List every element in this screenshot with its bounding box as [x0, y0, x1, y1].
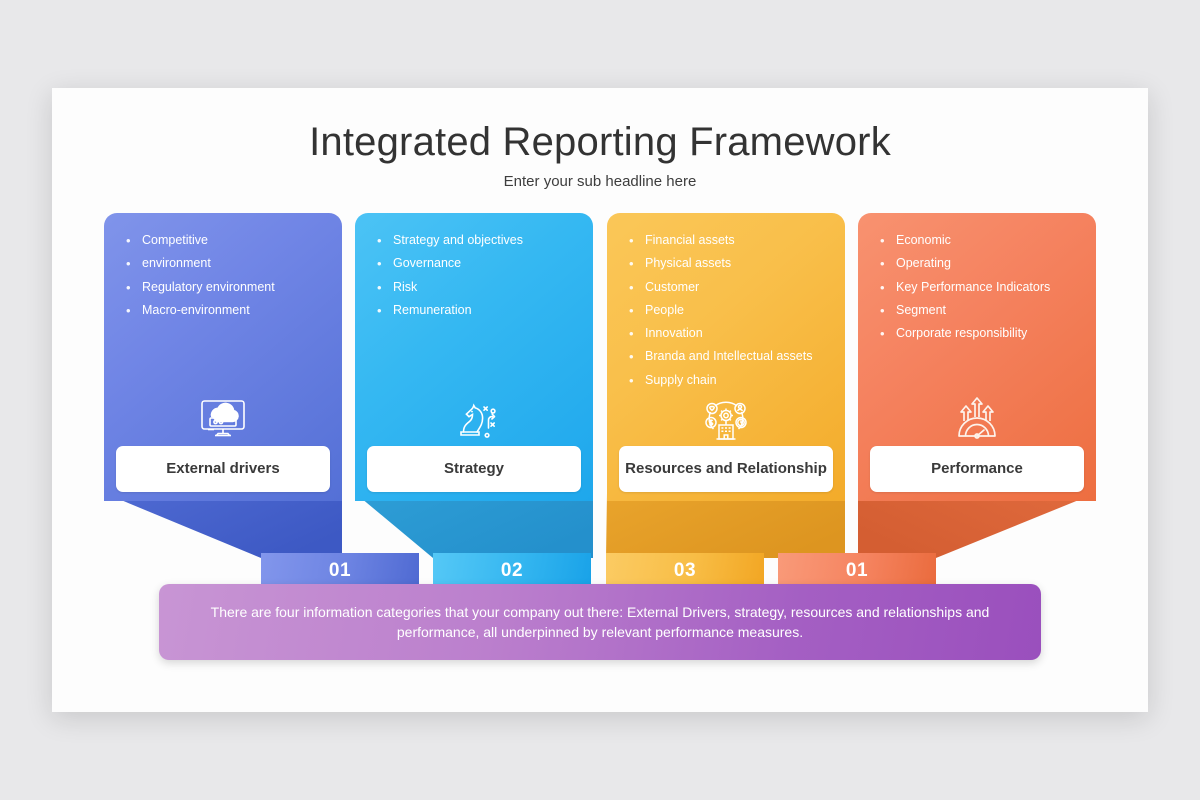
page-subtitle: Enter your sub headline here: [52, 173, 1148, 190]
list-item: • People: [629, 303, 835, 319]
list-item-label: Corporate responsibility: [896, 326, 1086, 342]
list-item: • Financial assets: [629, 233, 835, 249]
list-item-label: Supply chain: [645, 373, 835, 389]
bullet-dot: •: [377, 233, 393, 249]
list-item: • Remuneration: [377, 303, 583, 319]
list-item-label: Key Performance Indicators: [896, 280, 1086, 296]
list-item-label: People: [645, 303, 835, 319]
list-item: • Operating: [880, 256, 1086, 272]
list-item: • Supply chain: [629, 373, 835, 389]
list-item: • Corporate responsibility: [880, 326, 1086, 342]
cloud-server-monitor-icon: [104, 391, 342, 445]
bullet-dot: •: [880, 233, 896, 249]
bullet-dot: •: [629, 256, 645, 272]
bullet-dot: •: [880, 280, 896, 296]
bullet-dot: •: [377, 256, 393, 272]
list-item: • Economic: [880, 233, 1086, 249]
column-card: • Strategy and objectives • Governance •…: [355, 213, 593, 501]
bullet-list: • Economic • Operating • Key Performance…: [880, 233, 1086, 349]
column-external-drivers[interactable]: • Competitive • environment • Regulatory…: [104, 213, 342, 501]
bullet-dot: •: [629, 326, 645, 342]
list-item-label: Customer: [645, 280, 835, 296]
list-item-label: Physical assets: [645, 256, 835, 272]
list-item: • Regulatory environment: [126, 280, 332, 296]
list-item-label: Remuneration: [393, 303, 583, 319]
performance-gauge-arrows-icon: [858, 391, 1096, 445]
bullet-dot: •: [629, 349, 645, 365]
bullet-dot: •: [880, 326, 896, 342]
list-item-label: Risk: [393, 280, 583, 296]
bullet-dot: •: [880, 256, 896, 272]
slide-canvas: Integrated Reporting Framework Enter you…: [52, 88, 1148, 712]
list-item: • Branda and Intellectual assets: [629, 349, 835, 365]
summary-banner: There are four information categories th…: [159, 584, 1041, 660]
bullet-dot: •: [629, 373, 645, 389]
list-item: • Competitive: [126, 233, 332, 249]
list-item-label: Segment: [896, 303, 1086, 319]
bullet-list: • Financial assets • Physical assets • C…: [629, 233, 835, 396]
list-item: • Strategy and objectives: [377, 233, 583, 249]
column-performance[interactable]: • Economic • Operating • Key Performance…: [858, 213, 1096, 501]
list-item-label: Financial assets: [645, 233, 835, 249]
list-item: • Risk: [377, 280, 583, 296]
list-item-label: Economic: [896, 233, 1086, 249]
list-item-label: Competitive: [142, 233, 332, 249]
list-item-label: Branda and Intellectual assets: [645, 349, 835, 365]
list-item: • Innovation: [629, 326, 835, 342]
bullet-dot: •: [377, 280, 393, 296]
list-item: • Segment: [880, 303, 1086, 319]
column-label-strategy[interactable]: Strategy: [367, 446, 581, 492]
column-label-resources-relationship[interactable]: Resources and Relationship: [619, 446, 833, 492]
column-card: • Competitive • environment • Regulatory…: [104, 213, 342, 501]
page-title: Integrated Reporting Framework: [52, 120, 1148, 165]
resources-network-gear-icon: [607, 391, 845, 445]
list-item-label: Regulatory environment: [142, 280, 332, 296]
bullet-dot: •: [629, 233, 645, 249]
bullet-dot: •: [126, 280, 142, 296]
bullet-list: • Competitive • environment • Regulatory…: [126, 233, 332, 326]
column-label-performance[interactable]: Performance: [870, 446, 1084, 492]
summary-text: There are four information categories th…: [205, 602, 995, 643]
list-item-label: Operating: [896, 256, 1086, 272]
bullet-dot: •: [126, 303, 142, 319]
list-item: • Governance: [377, 256, 583, 272]
column-resources-relationship[interactable]: • Financial assets • Physical assets • C…: [607, 213, 845, 501]
column-card: • Economic • Operating • Key Performance…: [858, 213, 1096, 501]
list-item: • Customer: [629, 280, 835, 296]
list-item-label: environment: [142, 256, 332, 272]
list-item: • Physical assets: [629, 256, 835, 272]
list-item-label: Innovation: [645, 326, 835, 342]
bullet-dot: •: [880, 303, 896, 319]
list-item-label: Macro-environment: [142, 303, 332, 319]
column-label-external-drivers[interactable]: External drivers: [116, 446, 330, 492]
list-item-label: Strategy and objectives: [393, 233, 583, 249]
column-strategy[interactable]: • Strategy and objectives • Governance •…: [355, 213, 593, 501]
bullet-dot: •: [126, 233, 142, 249]
list-item-label: Governance: [393, 256, 583, 272]
bullet-dot: •: [126, 256, 142, 272]
bullet-dot: •: [377, 303, 393, 319]
list-item: • environment: [126, 256, 332, 272]
column-card: • Financial assets • Physical assets • C…: [607, 213, 845, 501]
list-item: • Macro-environment: [126, 303, 332, 319]
bullet-dot: •: [629, 280, 645, 296]
chess-knight-strategy-icon: [355, 391, 593, 445]
bullet-dot: •: [629, 303, 645, 319]
bullet-list: • Strategy and objectives • Governance •…: [377, 233, 583, 326]
list-item: • Key Performance Indicators: [880, 280, 1086, 296]
